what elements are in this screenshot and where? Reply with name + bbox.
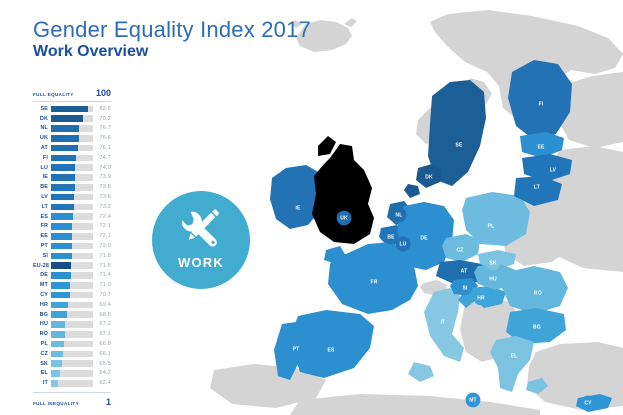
map-label-lt: LT (530, 180, 545, 195)
bar-country-code: LU (33, 165, 51, 171)
bar-value: 67.1 (93, 331, 111, 337)
bar-value: 72.0 (93, 243, 111, 249)
map-label-hr: HR (474, 291, 489, 306)
bar-country-code: IT (33, 380, 51, 386)
bar-track (51, 213, 93, 220)
map-label-fr: FR (367, 275, 382, 290)
bar-track (51, 272, 93, 279)
bar-fill (51, 164, 75, 171)
bar-country-code: PL (33, 341, 51, 347)
map-label-text: NL (395, 212, 402, 218)
bar-track (51, 184, 93, 191)
bar-fill (51, 351, 63, 358)
map-label-lu: LU (396, 237, 411, 252)
map-label-mt: MT (466, 393, 481, 408)
bar-row: EL64.2 (33, 369, 111, 379)
bar-value: 71.5 (93, 263, 111, 269)
bar-track (51, 233, 93, 240)
map-label-text: BE (387, 234, 395, 240)
bar-row: FR72.1 (33, 222, 111, 232)
bar-fill (51, 341, 64, 348)
bar-fill (51, 135, 79, 142)
map-label-si: SI (458, 281, 473, 296)
page-subtitle: Work Overview (33, 44, 311, 61)
bar-row: PT72.0 (33, 241, 111, 251)
map-label-text: SE (455, 142, 463, 148)
bar-track (51, 243, 93, 250)
bar-country-code: FR (33, 223, 51, 229)
bar-row: CZ66.1 (33, 349, 111, 359)
map-label-text: MT (469, 397, 477, 403)
bar-fill (51, 370, 60, 377)
bar-row: SE82.6 (33, 104, 111, 114)
bar-row: BE73.8 (33, 182, 111, 192)
bar-value: 64.2 (93, 370, 111, 376)
bar-value: 71.0 (93, 282, 111, 288)
bar-track (51, 194, 93, 201)
map-label-fi: FI (534, 97, 549, 112)
bar-row: PL66.8 (33, 339, 111, 349)
map-label-at: AT (457, 264, 472, 279)
full-equality-value: 100 (96, 88, 111, 98)
bar-row: EU-2871.5 (33, 261, 111, 271)
bar-row: ES72.4 (33, 212, 111, 222)
bar-row: DE71.4 (33, 271, 111, 281)
map-label-lv: LV (546, 163, 561, 178)
bar-country-code: SE (33, 106, 51, 112)
bar-value: 73.8 (93, 184, 111, 190)
map-label-bg: BG (530, 320, 545, 335)
bar-value: 71.8 (93, 253, 111, 259)
bar-row: LV73.6 (33, 192, 111, 202)
bar-track (51, 253, 93, 260)
map-label-text: BG (533, 324, 541, 330)
bar-value: 66.8 (93, 341, 111, 347)
bar-fill (51, 243, 72, 250)
bar-fill (51, 155, 76, 162)
map-label-uk: UK (337, 211, 352, 226)
bar-track (51, 292, 93, 299)
bar-fill (51, 321, 65, 328)
bar-fill (51, 233, 72, 240)
map-label-text: CY (584, 400, 592, 406)
map-label-hu: HU (486, 272, 501, 287)
bar-country-code: BE (33, 184, 51, 190)
map-label-text: SI (462, 285, 468, 291)
bar-row: FI74.7 (33, 153, 111, 163)
bar-value: 65.5 (93, 361, 111, 367)
bar-country-code: AT (33, 145, 51, 151)
map-label-text: FI (539, 101, 544, 107)
bar-track (51, 155, 93, 162)
bar-track (51, 321, 93, 328)
map-label-text: EE (537, 144, 545, 150)
bar-value: 68.6 (93, 312, 111, 318)
bar-value: 67.2 (93, 321, 111, 327)
bar-track (51, 351, 93, 358)
bar-value: 72.4 (93, 214, 111, 220)
bar-row: DK79.2 (33, 114, 111, 124)
bar-country-code: HU (33, 321, 51, 327)
bar-value: 66.1 (93, 351, 111, 357)
bar-track (51, 125, 93, 132)
map-label-cy: CY (581, 396, 596, 411)
bar-country-code: IE (33, 174, 51, 180)
bar-country-code: BG (33, 312, 51, 318)
bar-country-code: HR (33, 302, 51, 308)
map-label-text: LT (534, 184, 540, 190)
bar-value: 72.1 (93, 223, 111, 229)
bar-value: 79.2 (93, 116, 111, 122)
bar-country-code: EL (33, 370, 51, 376)
map-label-text: EL (511, 353, 518, 359)
bar-track (51, 145, 93, 152)
bar-country-code: MT (33, 282, 51, 288)
bar-fill (51, 311, 67, 318)
bar-country-code: RO (33, 331, 51, 337)
bar-value: 73.9 (93, 174, 111, 180)
country-ranking-chart: FULL EQUALITY 100 SE82.6DK79.2NL76.7UK76… (33, 88, 111, 407)
map-label-text: PL (488, 223, 495, 229)
bar-value: 73.6 (93, 194, 111, 200)
bar-fill (51, 184, 75, 191)
bar-row: CY70.7 (33, 290, 111, 300)
bar-track (51, 282, 93, 289)
scale-bottom-divider (33, 392, 111, 393)
bar-country-code: CY (33, 292, 51, 298)
bar-country-code: EU-28 (33, 263, 51, 269)
page-title-block: Gender Equality Index 2017 Work Overview (33, 18, 311, 61)
bar-value: 74.7 (93, 155, 111, 161)
map-label-ee: EE (534, 140, 549, 155)
bar-track (51, 115, 93, 122)
bar-value: 62.4 (93, 380, 111, 386)
map-label-nl: NL (392, 208, 407, 223)
map-label-ie: IE (291, 201, 306, 216)
bar-value: 76.6 (93, 135, 111, 141)
map-label-text: HR (477, 295, 485, 301)
bar-row: HU67.2 (33, 320, 111, 330)
map-label-it: IT (436, 315, 451, 330)
bar-fill (51, 125, 79, 132)
map-label-dk: DK (422, 170, 437, 185)
bar-country-code: SI (33, 253, 51, 259)
bar-row: RO67.1 (33, 329, 111, 339)
work-badge-label: WORK (178, 255, 224, 270)
bar-list: SE82.6DK79.2NL76.7UK76.6AT76.1FI74.7LU74… (33, 104, 111, 388)
bar-track (51, 311, 93, 318)
bar-country-code: PT (33, 243, 51, 249)
bar-fill (51, 331, 65, 338)
map-label-text: FR (370, 279, 377, 285)
map-label-text: SK (489, 260, 497, 266)
bar-country-code: EE (33, 233, 51, 239)
map-label-ro: RO (531, 286, 546, 301)
bar-track (51, 380, 93, 387)
bar-track (51, 360, 93, 367)
bar-row: SK65.5 (33, 359, 111, 369)
bar-fill (51, 253, 72, 260)
scale-bottom: FULL INEQUALITY 1 (33, 397, 111, 407)
work-domain-badge: WORK (152, 191, 250, 289)
bar-value: 70.7 (93, 292, 111, 298)
bar-fill (51, 262, 71, 269)
map-label-text: ES (327, 347, 335, 353)
bar-country-code: LV (33, 194, 51, 200)
bar-row: AT76.1 (33, 143, 111, 153)
bar-country-code: FI (33, 155, 51, 161)
map-label-pt: PT (289, 342, 304, 357)
bar-fill (51, 194, 74, 201)
map-label-el: EL (507, 349, 522, 364)
map-label-text: PT (293, 346, 300, 352)
map-label-text: HU (489, 276, 497, 282)
bar-country-code: ES (33, 214, 51, 220)
bar-track (51, 164, 93, 171)
map-label-se: SE (452, 138, 467, 153)
map-label-es: ES (324, 343, 339, 358)
bar-track (51, 204, 93, 211)
bar-fill (51, 223, 72, 230)
bar-row: MT71.0 (33, 280, 111, 290)
full-inequality-value: 1 (106, 397, 111, 407)
bar-track (51, 106, 93, 113)
bar-row: LU74.0 (33, 163, 111, 173)
map-label-text: LU (399, 241, 406, 247)
bar-country-code: UK (33, 135, 51, 141)
bar-fill (51, 380, 58, 387)
full-equality-label: FULL EQUALITY (33, 92, 74, 97)
bar-country-code: DE (33, 272, 51, 278)
bar-track (51, 302, 93, 309)
bar-row: IE73.9 (33, 173, 111, 183)
bar-fill (51, 302, 68, 309)
bar-fill (51, 272, 71, 279)
bar-row: SI71.8 (33, 251, 111, 261)
bar-fill (51, 213, 73, 220)
bar-track (51, 331, 93, 338)
bar-fill (51, 292, 70, 299)
bar-value: 71.4 (93, 272, 111, 278)
map-label-de: DE (417, 231, 432, 246)
bar-fill (51, 115, 83, 122)
bar-value: 73.2 (93, 204, 111, 210)
scale-top-divider (33, 101, 111, 102)
map-label-text: DK (425, 174, 433, 180)
bar-track (51, 223, 93, 230)
bar-row: HR69.4 (33, 300, 111, 310)
bar-fill (51, 145, 78, 152)
bar-row: EE72.1 (33, 231, 111, 241)
scale-top: FULL EQUALITY 100 (33, 88, 111, 98)
bar-track (51, 135, 93, 142)
map-label-sk: SK (486, 256, 501, 271)
bar-country-code: NL (33, 125, 51, 131)
map-label-text: LV (550, 167, 557, 173)
bar-row: LT73.2 (33, 202, 111, 212)
bar-country-code: CZ (33, 351, 51, 357)
map-label-text: AT (461, 268, 468, 274)
wrench-pencil-icon (178, 208, 224, 252)
map-label-text: IT (441, 319, 446, 325)
bar-track (51, 174, 93, 181)
bar-track (51, 262, 93, 269)
bar-value: 76.7 (93, 125, 111, 131)
bar-value: 76.1 (93, 145, 111, 151)
map-label-text: RO (534, 290, 542, 296)
map-label-pl: PL (484, 219, 499, 234)
bar-value: 69.4 (93, 302, 111, 308)
bar-track (51, 341, 93, 348)
bar-row: UK76.6 (33, 133, 111, 143)
bar-country-code: DK (33, 116, 51, 122)
bar-country-code: SK (33, 361, 51, 367)
page-title: Gender Equality Index 2017 (33, 18, 311, 41)
map-label-text: DE (420, 235, 428, 241)
bar-value: 82.6 (93, 106, 111, 112)
map-label-cz: CZ (453, 243, 468, 258)
bar-fill (51, 204, 74, 211)
full-inequality-label: FULL INEQUALITY (33, 401, 79, 406)
bar-fill (51, 106, 88, 113)
map-label-text: CZ (456, 247, 463, 253)
bar-row: NL76.7 (33, 124, 111, 134)
bar-fill (51, 174, 75, 181)
map-label-text: IE (295, 205, 301, 211)
bar-row: BG68.6 (33, 310, 111, 320)
bar-country-code: LT (33, 204, 51, 210)
bar-value: 72.1 (93, 233, 111, 239)
bar-row: IT62.4 (33, 378, 111, 388)
bar-fill (51, 282, 70, 289)
bar-track (51, 370, 93, 377)
map-label-text: UK (340, 215, 348, 221)
bar-value: 74.0 (93, 165, 111, 171)
bar-fill (51, 360, 62, 367)
